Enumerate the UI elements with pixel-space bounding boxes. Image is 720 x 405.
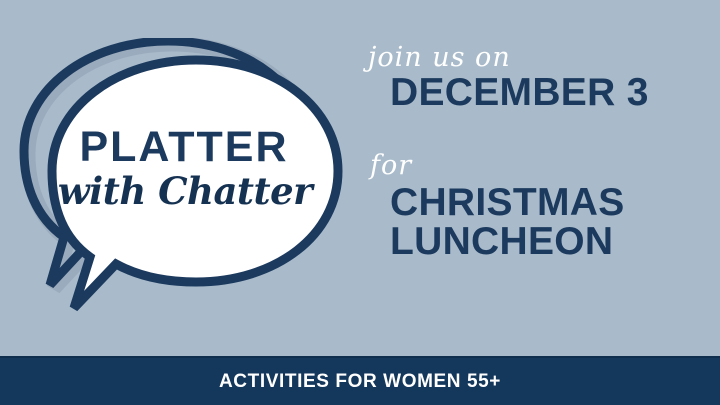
event-name: CHRISTMAS LUNCHEON [390,184,625,261]
event-date: DECEMBER 3 [390,74,649,113]
speech-bubble-icon [18,38,348,318]
join-us-on-script: join us on [368,44,511,71]
promo-poster: PLATTER with Chatter join us on DECEMBER… [0,0,720,405]
event-name-line-1: CHRISTMAS [390,184,625,223]
event-details: join us on DECEMBER 3 for CHRISTMAS LUNC… [362,44,702,304]
bottom-banner: ACTIVITIES FOR WOMEN 55+ [0,356,720,405]
banner-text: ACTIVITIES FOR WOMEN 55+ [219,371,501,393]
platter-with-chatter-logo: PLATTER with Chatter [18,38,348,318]
for-script: for [370,152,412,179]
event-name-line-2: LUNCHEON [390,223,625,262]
